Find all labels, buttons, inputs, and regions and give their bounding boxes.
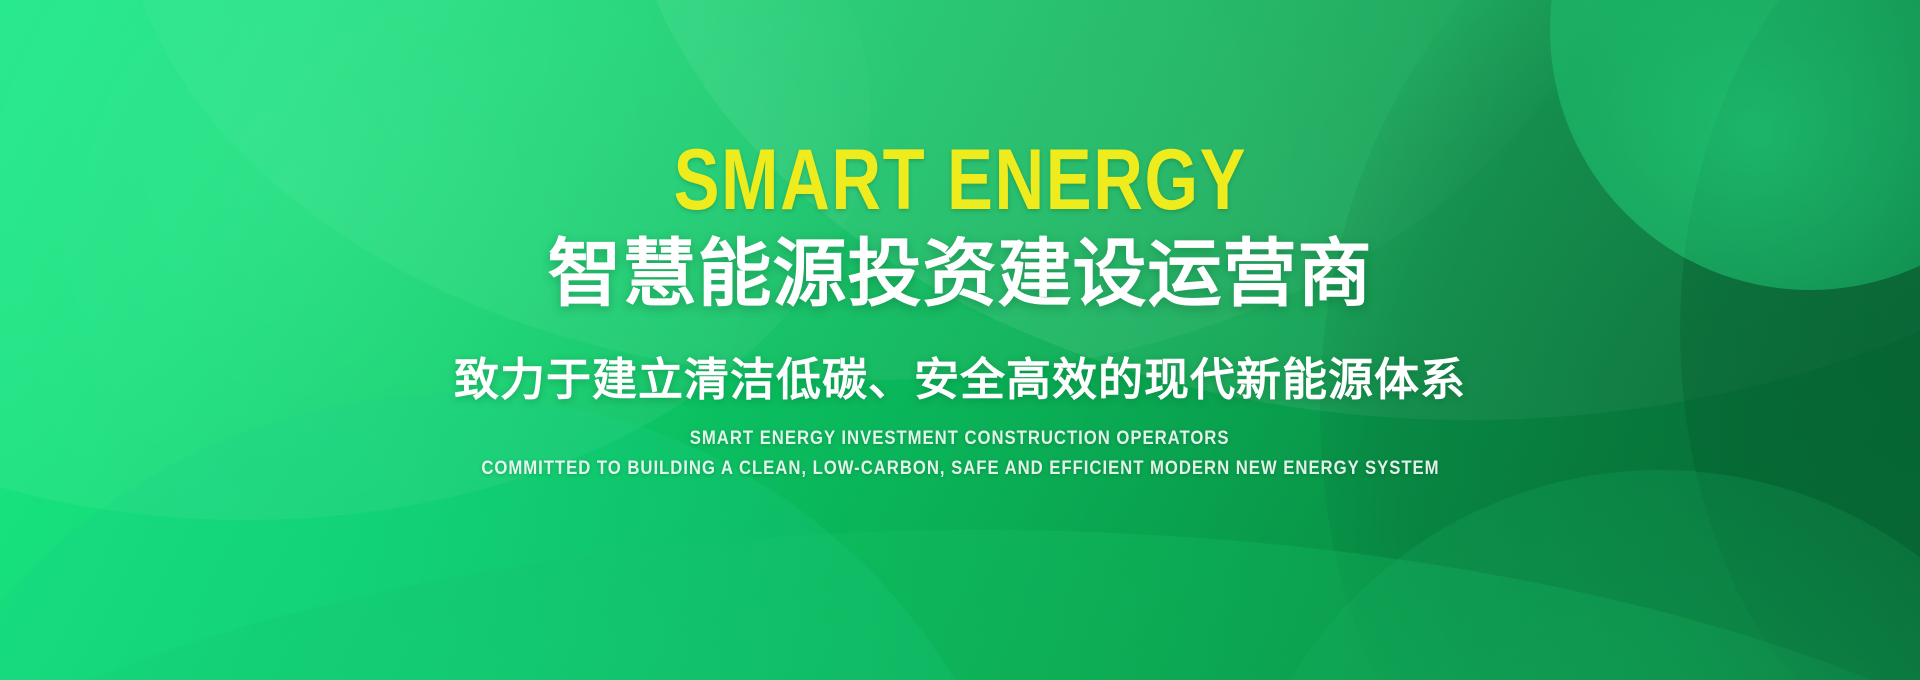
banner-headline-chinese: 智慧能源投资建设运营商 [548,235,1373,313]
banner-subtitle-chinese: 致力于建立清洁低碳、安全高效的现代新能源体系 [454,355,1466,405]
banner-tagline-group: SMART ENERGY INVESTMENT CONSTRUCTION OPE… [416,427,1505,481]
banner-headline-english: SMART ENERGY [673,140,1246,221]
banner-tagline-line-1: SMART ENERGY INVESTMENT CONSTRUCTION OPE… [690,427,1230,451]
hero-banner: SMART ENERGY 智慧能源投资建设运营商 致力于建立清洁低碳、安全高效的… [0,0,1920,680]
banner-text-stack: SMART ENERGY 智慧能源投资建设运营商 致力于建立清洁低碳、安全高效的… [0,0,1920,680]
banner-tagline-line-2: COMMITTED TO BUILDING A CLEAN, LOW-CARBO… [481,457,1439,481]
